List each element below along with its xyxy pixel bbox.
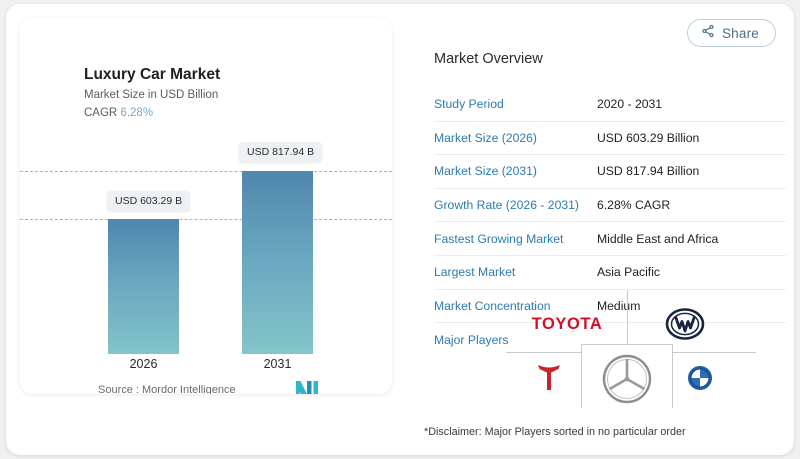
grid-line-vertical-top xyxy=(627,290,628,344)
bar-label-2031: USD 817.94 B xyxy=(239,142,322,162)
grid-line-horizontal-right xyxy=(673,352,756,353)
bar-2026[interactable] xyxy=(108,219,179,354)
row-value: 2020 - 2031 xyxy=(597,97,662,111)
row-value: USD 603.29 Billion xyxy=(597,131,699,145)
table-row: Growth Rate (2026 - 2031) 6.28% CAGR xyxy=(434,189,786,223)
major-players-grid: TOYOTA xyxy=(506,290,756,408)
category-label-2026: 2026 xyxy=(108,357,179,371)
bars-area xyxy=(20,171,392,354)
table-row: Market Size (2026) USD 603.29 Billion xyxy=(434,122,786,156)
row-label: Largest Market xyxy=(434,265,597,279)
share-button-label: Share xyxy=(722,26,759,41)
share-nodes-icon xyxy=(701,24,715,43)
table-row: Market Size (2031) USD 817.94 Billion xyxy=(434,155,786,189)
logo-toyota: TOYOTA xyxy=(524,312,610,336)
gridline-2026 xyxy=(20,219,392,220)
share-button[interactable]: Share xyxy=(687,19,776,47)
grid-line-horizontal-left xyxy=(506,352,581,353)
table-row: Largest Market Asia Pacific xyxy=(434,256,786,290)
gridline-2031 xyxy=(20,171,392,172)
row-label: Fastest Growing Market xyxy=(434,232,597,246)
chart-panel: Luxury Car Market Market Size in USD Bil… xyxy=(20,18,392,394)
row-value: Middle East and Africa xyxy=(597,232,718,246)
report-card: Share Luxury Car Market Market Size in U… xyxy=(6,4,794,455)
logo-volkswagen xyxy=(664,306,706,342)
logo-bmw xyxy=(686,364,714,392)
logo-tesla xyxy=(534,360,564,394)
logo-mercedes-benz xyxy=(600,352,654,406)
row-label: Market Size (2031) xyxy=(434,164,597,178)
row-label: Growth Rate (2026 - 2031) xyxy=(434,198,597,212)
category-label-2031: 2031 xyxy=(242,357,313,371)
bar-label-2026: USD 603.29 B xyxy=(107,191,190,211)
table-row: Study Period 2020 - 2031 xyxy=(434,88,786,122)
row-label: Study Period xyxy=(434,97,597,111)
bar-2031[interactable] xyxy=(242,171,313,354)
row-label: Market Size (2026) xyxy=(434,131,597,145)
table-row: Fastest Growing Market Middle East and A… xyxy=(434,222,786,256)
row-value: Asia Pacific xyxy=(597,265,660,279)
mordor-intelligence-logo xyxy=(296,381,320,394)
chart-source: Source : Mordor Intelligence xyxy=(98,384,236,394)
row-value: 6.28% CAGR xyxy=(597,198,670,212)
overview-title: Market Overview xyxy=(434,51,543,67)
bar-chart-plot: USD 603.29 B USD 817.94 B 2026 2031 xyxy=(20,18,392,394)
row-value: USD 817.94 Billion xyxy=(597,164,699,178)
disclaimer-text: *Disclaimer: Major Players sorted in no … xyxy=(424,426,686,438)
